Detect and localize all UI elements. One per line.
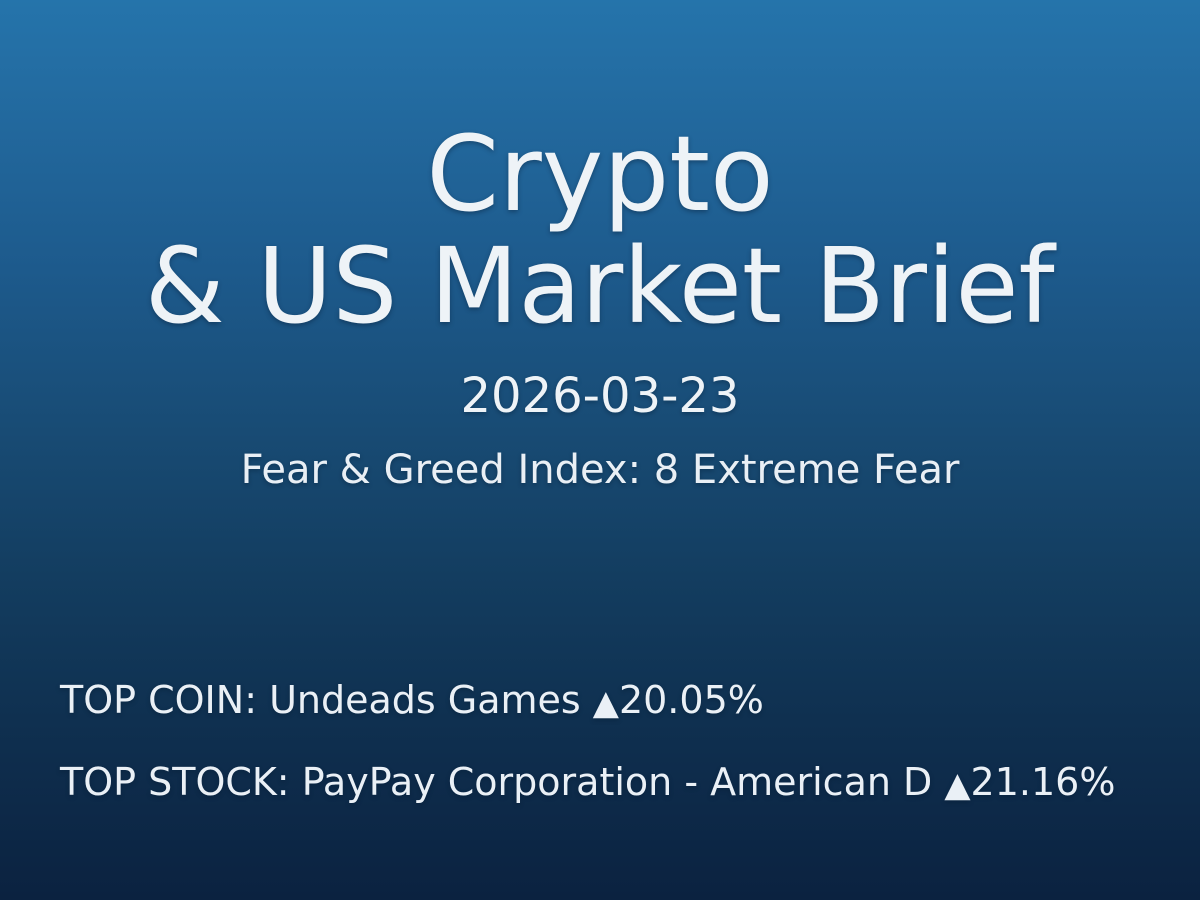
page-title: Crypto & US Market Brief [0, 118, 1200, 342]
fear-greed-index: Fear & Greed Index: 8 Extreme Fear [0, 446, 1200, 494]
triangle-up-icon: ▲ [593, 684, 619, 722]
top-coin-label: TOP COIN: [60, 678, 257, 722]
top-coin-name: Undeads Games [269, 678, 581, 722]
highlights-block: TOP COIN: Undeads Games ▲20.05% TOP STOC… [60, 676, 1190, 806]
top-stock-label: TOP STOCK: [60, 760, 290, 804]
top-coin-row: TOP COIN: Undeads Games ▲20.05% [60, 676, 1190, 724]
report-date: 2026-03-23 [0, 368, 1200, 424]
triangle-up-icon: ▲ [944, 766, 970, 804]
top-stock-change: 21.16% [971, 760, 1116, 804]
top-stock-row: TOP STOCK: PayPay Corporation - American… [60, 758, 1190, 806]
top-coin-change: 20.05% [619, 678, 764, 722]
top-stock-name: PayPay Corporation - American D [302, 760, 933, 804]
page-title-line-1: Crypto [0, 118, 1200, 230]
header-block: Crypto & US Market Brief 2026-03-23 Fear… [0, 118, 1200, 494]
slide-root: Crypto & US Market Brief 2026-03-23 Fear… [0, 0, 1200, 900]
page-title-line-2: & US Market Brief [145, 230, 1055, 342]
